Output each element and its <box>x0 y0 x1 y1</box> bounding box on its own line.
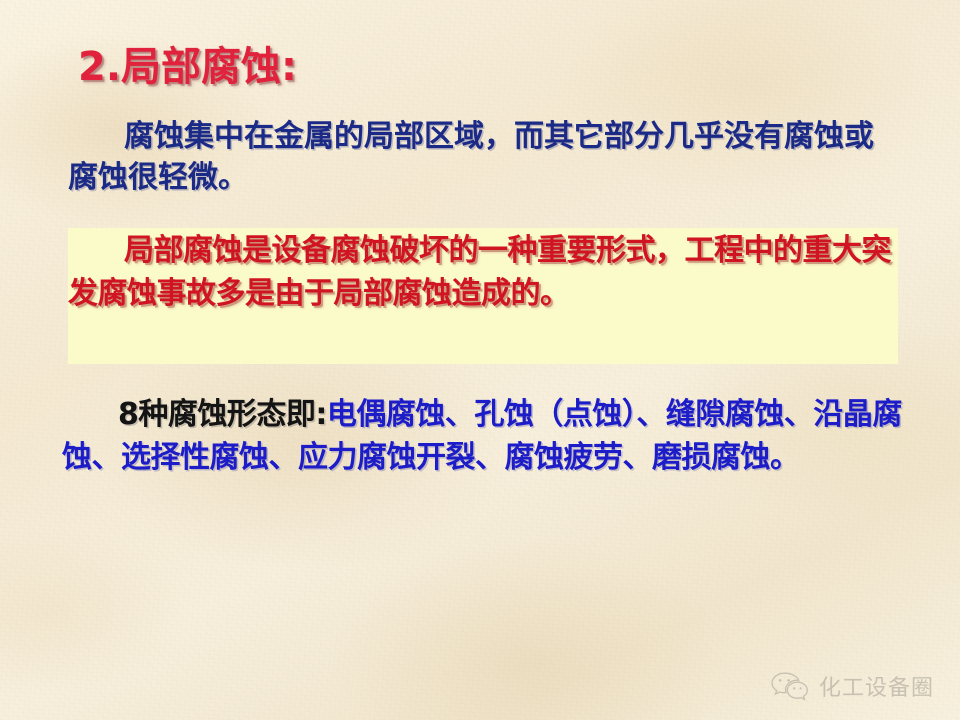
highlight-callout-text: 局部腐蚀是设备腐蚀破坏的一种重要形式，工程中的重大突发腐蚀事故多是由于局部腐蚀造… <box>68 224 914 315</box>
highlight-callout-box: 局部腐蚀是设备腐蚀破坏的一种重要形式，工程中的重大突发腐蚀事故多是由于局部腐蚀造… <box>68 228 898 364</box>
page-title: 2.局部腐蚀: <box>78 34 297 92</box>
watermark: 化工设备圈 <box>770 670 934 702</box>
slide-canvas: 2.局部腐蚀: 腐蚀集中在金属的局部区域，而其它部分几乎没有腐蚀或腐蚀很轻微。 … <box>0 0 960 720</box>
watermark-text: 化工设备圈 <box>819 670 934 702</box>
wechat-icon <box>770 671 810 701</box>
corrosion-types-lead: 8种腐蚀形态即: <box>118 397 327 432</box>
intro-paragraph: 腐蚀集中在金属的局部区域，而其它部分几乎没有腐蚀或腐蚀很轻微。 <box>68 116 898 199</box>
corrosion-types-paragraph: 8种腐蚀形态即:电偶腐蚀、孔蚀（点蚀）、缝隙腐蚀、沿晶腐蚀、选择性腐蚀、应力腐蚀… <box>62 394 907 479</box>
